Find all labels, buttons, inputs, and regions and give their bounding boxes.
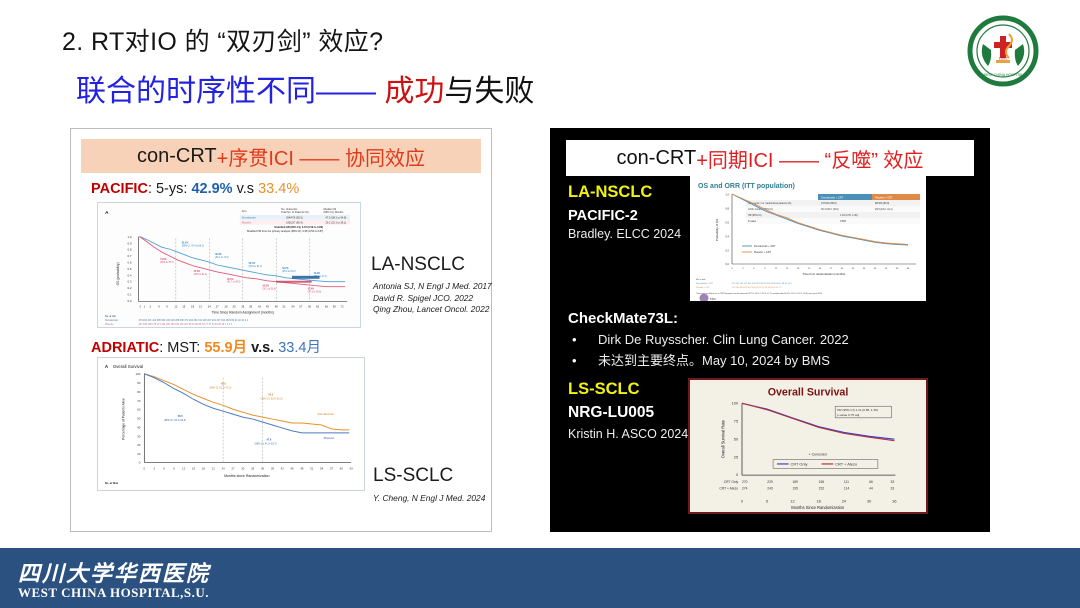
svg-text:12: 12 <box>182 466 186 470</box>
svg-text:Placebo + CRT: Placebo + CRT <box>696 287 710 289</box>
pacific2-study-name: PACIFIC-2 <box>568 208 638 224</box>
svg-text:45: 45 <box>266 304 270 308</box>
tag-la-nsclc: LA-NSCLC <box>568 183 652 202</box>
pacific2-os-orr-chart: OS and ORR (ITT population) Durvalumab +… <box>690 176 926 301</box>
svg-text:Stratified HR (95% CI), 0.72 (: Stratified HR (95% CI), 0.72 (0.59 to 0.… <box>274 225 323 229</box>
citation-item: Qing Zhou, Lancet Oncol. 2022 <box>373 304 492 316</box>
svg-text:+ Censored: + Censored <box>809 453 827 457</box>
svg-text:(68.5 to 79.7): (68.5 to 79.7) <box>160 261 174 264</box>
svg-text:27: 27 <box>216 304 220 308</box>
ls-sclc-label: LS-SCLC <box>373 465 453 487</box>
svg-text:12: 12 <box>790 498 794 503</box>
left-panel-sequential-ici: con-CRT+序贯ICI —— 协同效应 PACIFIC: 5-ys: 42.… <box>70 128 492 532</box>
svg-text:HR (95% CI): HR (95% CI) <box>748 214 762 217</box>
adriatic-value-orange: 55.9月 <box>204 340 247 356</box>
svg-text:15: 15 <box>182 304 186 308</box>
adriatic-os-chart: A Overall Survival 1009080 706050 403020… <box>97 357 365 491</box>
svg-text:(61.1 to 71.0): (61.1 to 71.0) <box>215 256 229 259</box>
svg-text:No. at risk:: No. at risk: <box>696 278 706 281</box>
subtitle-black: 与失败 <box>444 75 534 108</box>
svg-text:21: 21 <box>212 466 216 470</box>
svg-text:0.0: 0.0 <box>127 299 131 303</box>
svg-text:42.9%: 42.9% <box>314 272 320 275</box>
citation-item: Y. Cheng, N Engl J Med. 2024 <box>373 493 485 505</box>
svg-text:Placebo: Placebo <box>324 436 335 440</box>
left-panel-banner: con-CRT+序贯ICI —— 协同效应 <box>81 139 481 173</box>
svg-text:56.7%: 56.7% <box>249 263 255 265</box>
svg-text:CRT Only: CRT Only <box>724 480 739 484</box>
pacific-sep: : 5-ys: <box>148 181 192 197</box>
svg-text:0.4: 0.4 <box>725 235 729 239</box>
svg-text:100: 100 <box>135 372 140 376</box>
adriatic-os-svg: A Overall Survival 1009080 706050 403020… <box>98 358 364 490</box>
svg-text:21: 21 <box>199 304 203 308</box>
svg-text:(41.7 to 49.5): (41.7 to 49.5) <box>227 281 241 284</box>
svg-text:P-value: P-value <box>748 220 757 223</box>
svg-text:(45.0 to 54.2): (45.0 to 54.2) <box>282 270 296 273</box>
svg-text:156: 156 <box>819 480 825 484</box>
svg-text:20: 20 <box>137 443 141 447</box>
svg-text:Total No. of Patients (%): Total No. of Patients (%) <box>281 210 309 214</box>
svg-text:50: 50 <box>137 417 141 421</box>
svg-text:0.9: 0.9 <box>127 241 131 245</box>
svg-text:0.2: 0.2 <box>127 286 131 290</box>
svg-text:There was no difference in ORR: There was no difference in ORR between t… <box>696 292 823 295</box>
svg-text:36: 36 <box>892 498 896 503</box>
svg-text:1.03 (0.78, 1.39): 1.03 (0.78, 1.39) <box>840 214 858 217</box>
svg-text:Placebo + CRT: Placebo + CRT <box>875 196 893 200</box>
svg-text:24: 24 <box>208 304 212 308</box>
svg-text:51: 51 <box>310 466 314 470</box>
svg-text:45: 45 <box>291 466 295 470</box>
svg-text:47.5 (38.1 to 64.8): 47.5 (38.1 to 64.8) <box>325 216 346 220</box>
svg-text:(38.2 to 47.1): (38.2 to 47.1) <box>314 275 328 278</box>
svg-text:18: 18 <box>202 466 206 470</box>
svg-text:Time from randomization (month: Time from randomization (months) <box>803 272 846 276</box>
svg-text:98/109 (89.9): 98/109 (89.9) <box>875 202 889 205</box>
bullet-icon: • <box>572 332 598 347</box>
svg-text:(95% CI), Months: (95% CI), Months <box>323 210 344 214</box>
svg-text:0.8: 0.8 <box>725 207 729 211</box>
svg-text:219 207 191 177 160 152 142 13: 219 207 191 177 160 152 142 133 124 113 … <box>732 283 792 285</box>
svg-text:66.3%: 66.3% <box>215 254 221 256</box>
svg-text:229: 229 <box>767 480 773 484</box>
svg-text:49.7%: 49.7% <box>282 267 288 270</box>
svg-text:(52.0 to 61.1): (52.0 to 61.1) <box>249 265 263 268</box>
svg-text:Durvalumab + CRT: Durvalumab + CRT <box>754 245 776 248</box>
svg-text:Overall Survival: Overall Survival <box>768 387 849 399</box>
svg-text:12: 12 <box>174 304 178 308</box>
svg-text:Durvalumab + CRT: Durvalumab + CRT <box>821 196 844 200</box>
nrg-lu005-os-svg: Overall Survival 10075 50250 Overall Sur… <box>690 380 926 512</box>
svg-text:33: 33 <box>891 480 895 484</box>
svg-text:(95% CI, 52.3–64.3): (95% CI, 52.3–64.3) <box>164 419 186 422</box>
svg-text:476 464 431 414 385 364 343 31: 476 464 431 414 385 364 343 318 288 268 … <box>138 319 248 322</box>
footer-title-en: WEST CHINA HOSPITAL,S.U. <box>18 585 209 601</box>
svg-text:0.4: 0.4 <box>127 273 131 277</box>
svg-text:111: 111 <box>844 480 849 484</box>
svg-text:18: 18 <box>191 304 195 308</box>
svg-text:237 220 198 178 171 164 160 15: 237 220 198 178 171 164 160 158 153 116 … <box>138 323 232 326</box>
svg-text:264/476 (55.5): 264/476 (55.5) <box>286 216 303 220</box>
svg-text:0.1: 0.1 <box>127 293 131 297</box>
svg-text:Months Since Randomization: Months Since Randomization <box>791 505 844 510</box>
svg-text:6: 6 <box>766 498 768 503</box>
svg-text:72: 72 <box>341 304 345 308</box>
nrg-lu005-citation: Kristin H. ASCO 2024 <box>568 427 688 441</box>
svg-text:80: 80 <box>137 390 141 394</box>
left-banner-red: +序贯ICI —— 协同效应 <box>217 142 425 171</box>
svg-text:33.4%: 33.4% <box>308 288 314 291</box>
svg-text:CRT Only: CRT Only <box>791 461 808 466</box>
pacific2-os-orr-svg: OS and ORR (ITT population) Durvalumab +… <box>690 176 926 301</box>
svg-text:100: 100 <box>732 401 738 406</box>
pacific-vs: v.s <box>233 181 259 197</box>
svg-text:36: 36 <box>261 466 265 470</box>
la-nsclc-label: LA-NSCLC <box>371 254 465 276</box>
svg-text:(27.3 to 39.6): (27.3 to 39.6) <box>308 291 322 294</box>
nrg-lu005-name: NRG-LU005 <box>568 404 654 422</box>
adriatic-sep: : MST: <box>159 340 204 356</box>
svg-text:0.6: 0.6 <box>127 261 131 265</box>
svg-text:40: 40 <box>137 425 141 429</box>
checkmate-bullet-2-text: 未达到主要终点。May 10, 2024 by BMS <box>598 353 830 368</box>
svg-text:66: 66 <box>869 480 873 484</box>
right-banner-red: +同期ICI —— “反噬” 效应 <box>696 144 923 173</box>
svg-text:No. at Risk: No. at Risk <box>105 481 119 485</box>
svg-text:0.0: 0.0 <box>725 262 729 266</box>
svg-text:Overall Survival Rate: Overall Survival Rate <box>721 419 726 458</box>
svg-text:189: 189 <box>792 480 798 484</box>
svg-text:Durvalumab + CRT: Durvalumab + CRT <box>696 283 714 285</box>
svg-text:47.6: 47.6 <box>266 439 271 442</box>
pacific-label: PACIFIC <box>91 181 148 197</box>
footer-bar: 四川大学华西医院 WEST CHINA HOSPITAL,S.U. <box>0 548 1080 608</box>
footer-title-cn: 四川大学华西医院 <box>18 556 210 588</box>
svg-text:1.0: 1.0 <box>725 193 729 197</box>
nrg-lu005-os-chart: Overall Survival 10075 50250 Overall Sur… <box>688 378 928 514</box>
svg-text:109 106 98 92 87 80 76 66 62 5: 109 106 98 92 87 80 76 66 62 57 47 40 33… <box>732 287 782 289</box>
pacific-value-orange: 33.4% <box>258 181 299 197</box>
svg-text:68.0: 68.0 <box>221 383 226 386</box>
svg-text:48: 48 <box>275 304 279 308</box>
svg-text:83.1%: 83.1% <box>182 242 188 244</box>
svg-text:Overall Survival: Overall Survival <box>113 364 143 369</box>
svg-text:29.1 (22.1 to 35.1): 29.1 (22.1 to 35.1) <box>325 220 346 224</box>
svg-text:Placebo + CRT: Placebo + CRT <box>754 251 771 254</box>
bullet-icon: • <box>572 353 598 368</box>
svg-text:70: 70 <box>137 399 141 403</box>
adriatic-vs: v.s. <box>247 340 278 356</box>
svg-text:Placebo: Placebo <box>105 323 114 326</box>
svg-text:75: 75 <box>734 419 738 424</box>
svg-text:39: 39 <box>249 304 253 308</box>
svg-text:197/219 (89.5): 197/219 (89.5) <box>821 202 837 205</box>
svg-text:60: 60 <box>308 304 312 308</box>
svg-text:63: 63 <box>350 466 354 470</box>
right-panel-concurrent-ici: con-CRT+同期ICI —— “反噬” 效应 LA-NSCLC PACIFI… <box>550 128 990 532</box>
svg-text:0.5: 0.5 <box>127 267 131 271</box>
svg-text:24: 24 <box>222 466 226 470</box>
page-title: 2. RT对IO 的 “双刃剑” 效应? <box>62 22 383 58</box>
svg-text:(95% CI, 41.3–53.7): (95% CI, 41.3–53.7) <box>255 443 277 446</box>
pacific-os-chart: A Arm No. of Events/ Total No. of Patien… <box>97 202 361 328</box>
svg-text:54: 54 <box>291 304 295 308</box>
checkmate-bullet-1-text: Dirk De Ruysscher. Clin Lung Cancer. 202… <box>598 332 849 347</box>
left-banner-black: con-CRT <box>137 145 217 168</box>
svg-text:0: 0 <box>736 472 738 477</box>
svg-text:p-value 0.75 adj: p-value 0.75 adj <box>837 413 859 417</box>
svg-text:48.5%: 48.5% <box>227 278 233 281</box>
adriatic-label: ADRIATIC <box>91 340 159 356</box>
subtitle-blue: 联合的时序性不同—— <box>76 75 376 108</box>
svg-text:Months since Randomization: Months since Randomization <box>224 474 269 478</box>
subtitle: 联合的时序性不同—— 成功与失败 <box>76 66 534 110</box>
svg-text:0: 0 <box>741 498 743 503</box>
checkmate-bullet-1: •Dirk De Ruysscher. Clin Lung Cancer. 20… <box>572 332 849 347</box>
subtitle-red: 成功 <box>376 75 444 108</box>
svg-text:CRT + Atezo: CRT + Atezo <box>835 461 857 466</box>
svg-text:33: 33 <box>251 466 255 470</box>
adriatic-value-blue: 33.4月 <box>278 340 321 356</box>
svg-text:274: 274 <box>742 487 748 491</box>
pacific-value-blue: 42.9% <box>191 181 232 197</box>
pacific-stat-line: PACIFIC: 5-ys: 42.9% v.s 33.4% <box>91 181 299 197</box>
citation-item: Antonia SJ, N Engl J Med. 2017 <box>373 281 492 293</box>
svg-text:Arm: Arm <box>242 209 247 213</box>
svg-text:HR (95% CI) 1.11 (0.85, 1.45): HR (95% CI) 1.11 (0.85, 1.45) <box>837 408 878 412</box>
svg-text:39: 39 <box>271 466 275 470</box>
svg-text:27: 27 <box>231 466 235 470</box>
svg-text:0.8: 0.8 <box>127 248 131 252</box>
svg-text:(95% CI, 78.4 to 86.2): (95% CI, 78.4 to 86.2) <box>182 244 204 247</box>
svg-text:33: 33 <box>891 487 895 491</box>
svg-text:30: 30 <box>137 434 141 438</box>
svg-text:60: 60 <box>137 408 141 412</box>
svg-text:36: 36 <box>241 304 245 308</box>
svg-text:195: 195 <box>792 487 798 491</box>
svg-text:CRT + Atezo: CRT + Atezo <box>719 487 738 491</box>
pacific2-citation: Bradley. ELCC 2024 <box>568 227 681 241</box>
svg-text:Probability of OS: Probability of OS <box>715 219 719 242</box>
svg-text:15: 15 <box>192 466 196 470</box>
svg-text:63: 63 <box>316 304 320 308</box>
svg-text:0.2: 0.2 <box>725 249 729 253</box>
hospital-seal-icon: 1892 WEST CHINA HOSPITAL <box>966 14 1040 88</box>
svg-text:30: 30 <box>241 466 245 470</box>
svg-text:57: 57 <box>299 304 303 308</box>
svg-text:30: 30 <box>867 498 871 503</box>
svg-text:155/237 (65.4): 155/237 (65.4) <box>286 220 303 224</box>
svg-text:42: 42 <box>258 304 262 308</box>
slide-root: 2. RT对IO 的 “双刃剑” 效应? 联合的时序性不同—— 成功与失败 18… <box>0 0 1080 608</box>
tag-ls-sclc: LS-SCLC <box>568 380 640 399</box>
svg-text:74.6%: 74.6% <box>160 258 166 261</box>
svg-text:OS (probability): OS (probability) <box>116 262 120 285</box>
svg-text:OS and ORR (ITT population): OS and ORR (ITT population) <box>698 183 795 190</box>
svg-text:(30.1 to 50.6): (30.1 to 50.6) <box>262 288 276 291</box>
ls-sclc-citations: Y. Cheng, N Engl J Med. 2024 <box>373 493 485 505</box>
svg-text:56.5: 56.5 <box>268 393 273 396</box>
svg-text:Placebo: Placebo <box>242 220 252 224</box>
svg-text:57: 57 <box>330 466 334 470</box>
svg-text:No. at risk:: No. at risk: <box>105 315 117 318</box>
svg-text:54: 54 <box>320 466 324 470</box>
svg-text:(95% CI, 61.9–73.3): (95% CI, 61.9–73.3) <box>209 387 231 390</box>
svg-text:10: 10 <box>137 452 141 456</box>
svg-text:Durvalumab: Durvalumab <box>105 319 118 322</box>
svg-text:29.5 (23.2, 41.1): 29.5 (23.2, 41.1) <box>875 208 893 211</box>
svg-text:Percentage of Patients Alive: Percentage of Patients Alive <box>122 398 126 440</box>
svg-text:243: 243 <box>767 487 773 491</box>
svg-text:Durvalumab: Durvalumab <box>242 216 256 220</box>
svg-text:Stratified HR from the primary: Stratified HR from the primary analysis … <box>247 229 324 233</box>
svg-text:36.4 (30.2, 49.6): 36.4 (30.2, 49.6) <box>821 208 839 211</box>
svg-text:60: 60 <box>340 466 344 470</box>
svg-text:1892: 1892 <box>999 56 1009 61</box>
svg-text:55.3%: 55.3% <box>194 271 200 273</box>
right-banner-black: con-CRT <box>617 147 697 170</box>
svg-text:33: 33 <box>232 304 236 308</box>
svg-text:90: 90 <box>137 381 141 385</box>
svg-text:51: 51 <box>283 304 287 308</box>
svg-text:A: A <box>105 210 109 216</box>
svg-text:58.5: 58.5 <box>178 415 183 418</box>
svg-text:(95% CI, 50.0–62.5): (95% CI, 50.0–62.5) <box>261 397 283 400</box>
checkmate73l-name: CheckMate73L: <box>568 310 678 327</box>
svg-text:66: 66 <box>325 304 329 308</box>
svg-text:0.7: 0.7 <box>127 254 131 258</box>
svg-text:WEST CHINA HOSPITAL: WEST CHINA HOSPITAL <box>983 73 1024 77</box>
svg-text:42: 42 <box>281 466 285 470</box>
adriatic-stat-line: ADRIATIC: MST: 55.9月 v.s. 33.4月 <box>91 336 321 357</box>
svg-text:36.3%: 36.3% <box>262 286 268 288</box>
svg-text:48: 48 <box>300 466 304 470</box>
svg-text:Durvalumab: Durvalumab <box>318 412 334 416</box>
checkmate-bullet-2: •未达到主要终点。May 10, 2024 by BMS <box>572 350 830 369</box>
svg-text:18: 18 <box>817 498 821 503</box>
right-panel-banner: con-CRT+同期ICI —— “反噬” 效应 <box>566 140 974 176</box>
svg-text:50: 50 <box>734 437 738 442</box>
svg-text:0.853: 0.853 <box>840 220 847 223</box>
svg-text:30: 30 <box>225 304 229 308</box>
pacific-os-svg: A Arm No. of Events/ Total No. of Patien… <box>98 203 360 327</box>
svg-text:Time Since Random Assignment (: Time Since Random Assignment (months) <box>212 311 274 315</box>
svg-text:(48.6 to 61.4): (48.6 to 61.4) <box>194 273 208 276</box>
svg-text:114: 114 <box>844 487 849 491</box>
svg-text:44: 44 <box>869 487 873 491</box>
svg-text:69: 69 <box>333 304 337 308</box>
svg-text:0.3: 0.3 <box>127 280 131 284</box>
la-nsclc-citations: Antonia SJ, N Engl J Med. 2017 David R. … <box>373 281 492 316</box>
svg-text:270: 270 <box>742 480 748 484</box>
svg-text:1.0: 1.0 <box>127 235 131 239</box>
svg-text:152: 152 <box>819 487 825 491</box>
citation-item: David R. Spigel JCO. 2022 <box>373 293 492 305</box>
svg-text:elcc: elcc <box>710 297 716 301</box>
svg-text:25: 25 <box>734 455 738 460</box>
svg-text:0.6: 0.6 <box>725 221 729 225</box>
